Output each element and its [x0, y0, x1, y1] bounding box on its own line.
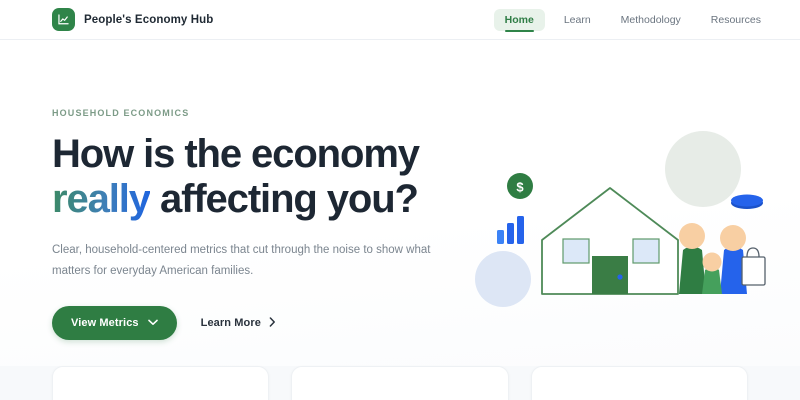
- site-header: People's Economy Hub Home Learn Methodol…: [0, 0, 800, 40]
- soft-blue-circle: [475, 251, 531, 307]
- page-title: How is the economy really affecting you?: [52, 132, 472, 222]
- family-figure-adult-green: [679, 223, 706, 294]
- svg-text:$: $: [516, 180, 524, 195]
- metric-card-2[interactable]: [291, 366, 508, 400]
- family-figure-child-green: [702, 253, 722, 295]
- brand-name: People's Economy Hub: [84, 14, 213, 26]
- view-metrics-button[interactable]: View Metrics: [52, 306, 177, 340]
- learn-more-label: Learn More: [201, 317, 261, 329]
- dollar-coin-badge: $: [507, 173, 533, 199]
- hero-subheading: Clear, household-centered metrics that c…: [52, 240, 442, 283]
- headline-accent-word: really: [52, 177, 150, 221]
- learn-more-link[interactable]: Learn More: [201, 317, 276, 330]
- headline-line-1: How is the economy: [52, 132, 419, 176]
- nav-item-resources[interactable]: Resources: [700, 9, 772, 31]
- bar-chart-icon: [497, 216, 524, 244]
- brand[interactable]: People's Economy Hub: [52, 8, 213, 31]
- view-metrics-label: View Metrics: [71, 317, 139, 329]
- page-root: People's Economy Hub Home Learn Methodol…: [0, 0, 800, 400]
- metric-card-1[interactable]: [52, 366, 269, 400]
- hero-copy: HOUSEHOLD ECONOMICS How is the economy r…: [52, 108, 472, 340]
- nav-item-learn[interactable]: Learn: [553, 9, 602, 31]
- hero-eyebrow: HOUSEHOLD ECONOMICS: [52, 108, 472, 118]
- house-door: [592, 256, 628, 294]
- house-window-right: [633, 239, 659, 263]
- line-chart-icon: [52, 8, 75, 31]
- chevron-down-icon: [148, 317, 158, 329]
- blue-disc: [731, 195, 763, 210]
- door-knob: [617, 274, 622, 279]
- metric-card-3[interactable]: [531, 366, 748, 400]
- primary-nav: Home Learn Methodology Resources: [494, 9, 772, 31]
- household-economy-illustration: $: [470, 122, 790, 332]
- house-window-left: [563, 239, 589, 263]
- shopping-bag: [742, 248, 765, 285]
- hero-subheading-line-1: Clear, household-centered metrics that c…: [52, 244, 373, 256]
- headline-line-2-rest: affecting you?: [150, 177, 418, 221]
- hero-section: HOUSEHOLD ECONOMICS How is the economy r…: [0, 40, 800, 366]
- nav-item-methodology[interactable]: Methodology: [610, 9, 692, 31]
- nav-item-home[interactable]: Home: [494, 9, 545, 31]
- hero-cta-row: View Metrics Learn More: [52, 306, 472, 340]
- chevron-right-icon: [269, 317, 276, 330]
- soft-sage-circle: [665, 131, 741, 207]
- metric-cards-strip: [0, 366, 800, 400]
